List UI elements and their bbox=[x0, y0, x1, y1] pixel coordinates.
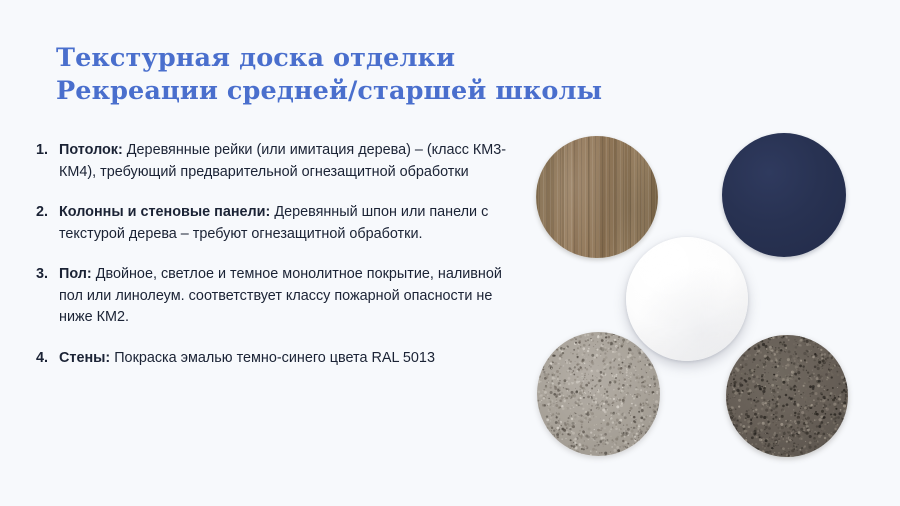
dark-terrazzo-swatch bbox=[726, 335, 848, 457]
light-terrazzo-swatch bbox=[537, 332, 660, 456]
list-item: 2. Колонны и стеновые панели: Деревянный… bbox=[36, 202, 528, 245]
list-item-body: Потолок: Деревянные рейки (или имитация … bbox=[59, 140, 528, 183]
dark-terrazzo-speckle-texture bbox=[726, 335, 848, 457]
page-title: Текстурная доска отделки Рекреации средн… bbox=[56, 42, 576, 108]
list-item-lead: Пол: bbox=[59, 266, 92, 282]
material-swatch-cluster bbox=[510, 110, 900, 480]
list-item-detail: Деревянные рейки (или имитация дерева) –… bbox=[59, 142, 506, 180]
finish-specification-list: 1. Потолок: Деревянные рейки (или имитац… bbox=[36, 140, 528, 369]
list-item-body: Стены: Покраска эмалью темно-синего цвет… bbox=[59, 348, 528, 370]
slide-canvas: Текстурная доска отделки Рекреации средн… bbox=[0, 0, 900, 506]
list-item-body: Колонны и стеновые панели: Деревянный шп… bbox=[59, 202, 528, 245]
title-line-1: Текстурная доска отделки bbox=[56, 42, 576, 75]
list-item-body: Пол: Двойное, светлое и темное монолитно… bbox=[59, 264, 528, 329]
list-item-number: 2. bbox=[36, 202, 59, 224]
list-item-number: 1. bbox=[36, 140, 59, 162]
list-item-number: 3. bbox=[36, 264, 59, 286]
list-item: 1. Потолок: Деревянные рейки (или имитац… bbox=[36, 140, 528, 183]
list-item-lead: Потолок: bbox=[59, 142, 123, 158]
navy-paint-swatch bbox=[722, 133, 846, 257]
list-item-detail: Покраска эмалью темно-синего цвета RAL 5… bbox=[110, 350, 435, 366]
list-item-detail: Двойное, светлое и темное монолитное пок… bbox=[59, 266, 502, 325]
list-item-number: 4. bbox=[36, 348, 59, 370]
light-terrazzo-speckle-texture bbox=[537, 332, 660, 456]
list-item-lead: Стены: bbox=[59, 350, 110, 366]
title-line-2: Рекреации средней/старшей школы bbox=[56, 75, 576, 108]
wood-veneer-swatch bbox=[536, 136, 658, 258]
white-glossy-swatch bbox=[626, 237, 748, 361]
list-item: 3. Пол: Двойное, светлое и темное моноли… bbox=[36, 264, 528, 329]
list-item-lead: Колонны и стеновые панели: bbox=[59, 204, 270, 220]
list-item: 4. Стены: Покраска эмалью темно-синего ц… bbox=[36, 348, 528, 370]
